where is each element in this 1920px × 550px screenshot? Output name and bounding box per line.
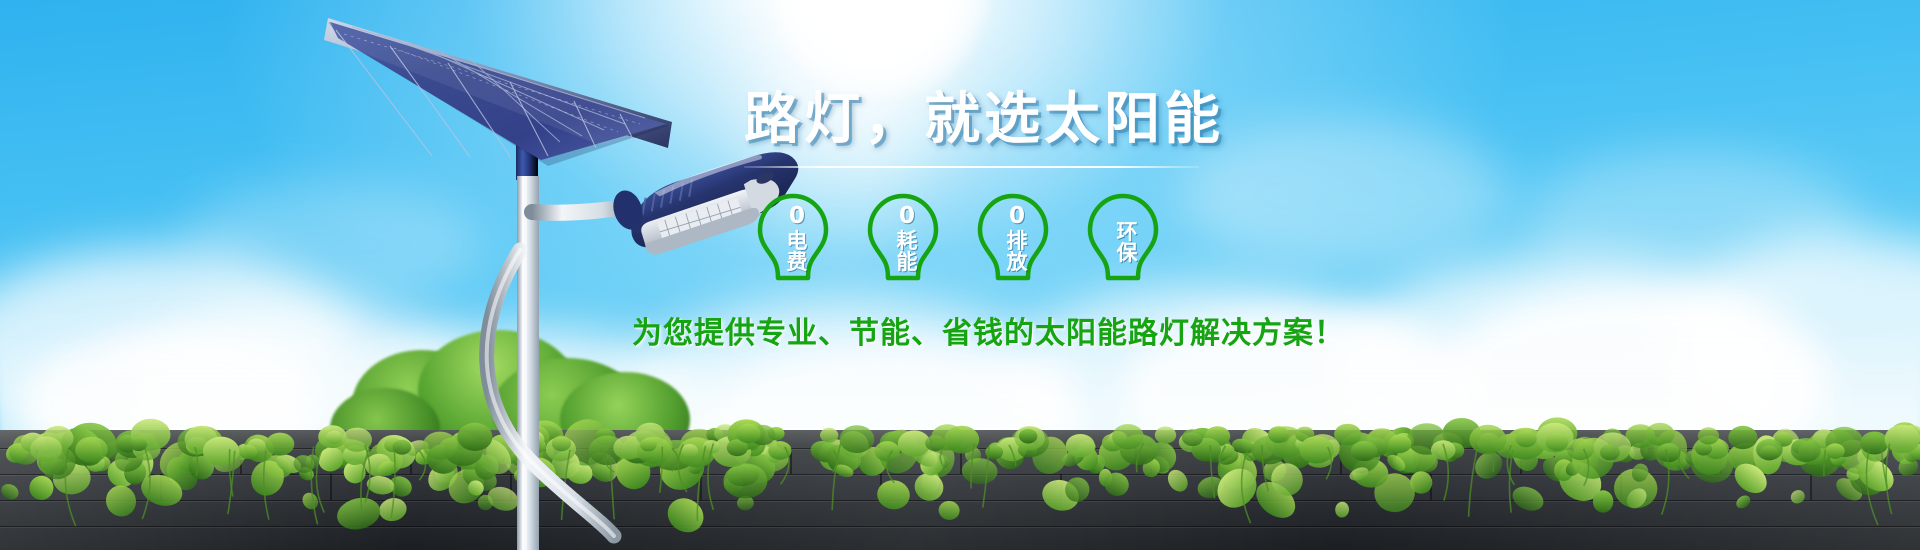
- solar-street-lamp-banner: 路灯，就选太阳能 0 电 费: [0, 0, 1920, 550]
- feature-badge-list: 0 电 费 0 耗 能: [744, 190, 1214, 288]
- badge-label-bottom: 放: [1007, 252, 1028, 273]
- badge-label-bottom: 保: [1117, 243, 1138, 264]
- tagline: 为您提供专业、节能、省钱的太阳能路灯解决方案！: [632, 308, 1214, 352]
- title-divider: [744, 166, 1199, 168]
- badge-label-top: 耗: [897, 231, 918, 252]
- banner-copy: 路灯，就选太阳能 0 电 费: [744, 92, 1214, 352]
- badge-label-top: 环: [1117, 222, 1138, 243]
- badge-label-bottom: 费: [787, 252, 808, 273]
- badge-label-top: 排: [1007, 231, 1028, 252]
- badge-number: 0: [789, 205, 805, 231]
- badge-label-top: 电: [787, 231, 808, 252]
- feature-badge: 0 耗 能: [860, 190, 946, 288]
- badge-label-bottom: 能: [897, 252, 918, 273]
- feature-badge: 环 保: [1080, 190, 1166, 288]
- feature-badge: 0 排 放: [970, 190, 1056, 288]
- badge-number: 0: [1009, 205, 1025, 231]
- feature-badge: 0 电 费: [750, 190, 836, 288]
- solar-panel: [324, 18, 672, 166]
- curved-pole: [487, 250, 614, 536]
- base-pole: [517, 176, 539, 550]
- page-title: 路灯，就选太阳能: [744, 92, 1214, 148]
- badge-number: 0: [899, 205, 915, 231]
